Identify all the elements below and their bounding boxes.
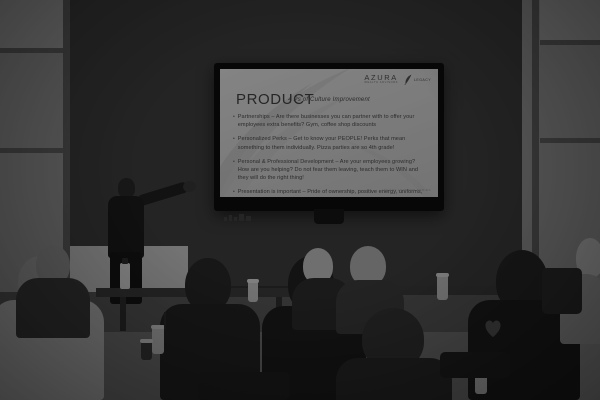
slide-bullet-item: • Partnerships – Are there businesses yo… [233, 113, 428, 129]
bullet-marker-icon: • [233, 158, 235, 183]
heart-graphic-icon [482, 318, 504, 338]
presentation-slide: AZURA WEALTH ADVISORS LEGACY PRODUCT [220, 69, 438, 197]
slide-bullet-text: Personalized Perks – Get to know your PE… [238, 135, 428, 151]
window-mullion [0, 148, 70, 153]
bullet-marker-icon: • [233, 188, 235, 197]
straw-icon [164, 312, 166, 330]
tv-indicator-icons [224, 214, 251, 221]
table-leg [120, 297, 126, 331]
azura-logo: AZURA WEALTH ADVISORS [364, 74, 398, 84]
legacy-logo: LEGACY [404, 74, 431, 85]
window-mullion [540, 40, 600, 45]
window-mullion [540, 138, 600, 143]
window-blind-right [540, 0, 600, 40]
slide-bullet-item: • Personalized Perks – Get to know your … [233, 135, 428, 151]
wall-mounted-tv: AZURA WEALTH ADVISORS LEGACY PRODUCT [214, 63, 444, 211]
window-mullion [0, 48, 70, 53]
slide-subtitle: 4 Ps of Culture Improvement [220, 97, 438, 103]
tv-bezel-bottom [220, 197, 438, 209]
drink-cup [437, 276, 448, 300]
tv-screen: AZURA WEALTH ADVISORS LEGACY PRODUCT [220, 69, 438, 197]
presenter-torso [108, 196, 144, 258]
presenter-head [118, 178, 135, 198]
slide-logo-group: AZURA WEALTH ADVISORS LEGACY [364, 74, 431, 85]
audience-shoulders [16, 278, 90, 338]
conference-room: AZURA WEALTH ADVISORS LEGACY PRODUCT [0, 0, 600, 400]
chair-back [440, 352, 510, 378]
slide-bullet-list: • Partnerships – Are there businesses yo… [233, 113, 428, 197]
drink-cup [152, 328, 164, 354]
screenshot-root: AZURA WEALTH ADVISORS LEGACY PRODUCT [0, 0, 600, 400]
tv-mount [314, 209, 344, 224]
drink-cup [248, 282, 258, 302]
drink-cup [141, 342, 152, 360]
slide-footer: LEGACY LEADERS SERIES [382, 188, 431, 192]
slide-bullet-text: Partnerships – Are there businesses you … [238, 113, 428, 129]
slide-bullet-item: • Personal & Professional Development – … [233, 158, 428, 183]
chair-back [542, 268, 582, 314]
window-blind-left [0, 0, 70, 48]
audience-shoulders [336, 358, 452, 400]
bullet-marker-icon: • [233, 135, 235, 151]
chair-back [198, 372, 290, 400]
slide-bullet-text: Personal & Professional Development – Ar… [238, 158, 428, 183]
feather-icon [404, 74, 413, 85]
water-bottle [120, 263, 130, 289]
bullet-marker-icon: • [233, 113, 235, 129]
